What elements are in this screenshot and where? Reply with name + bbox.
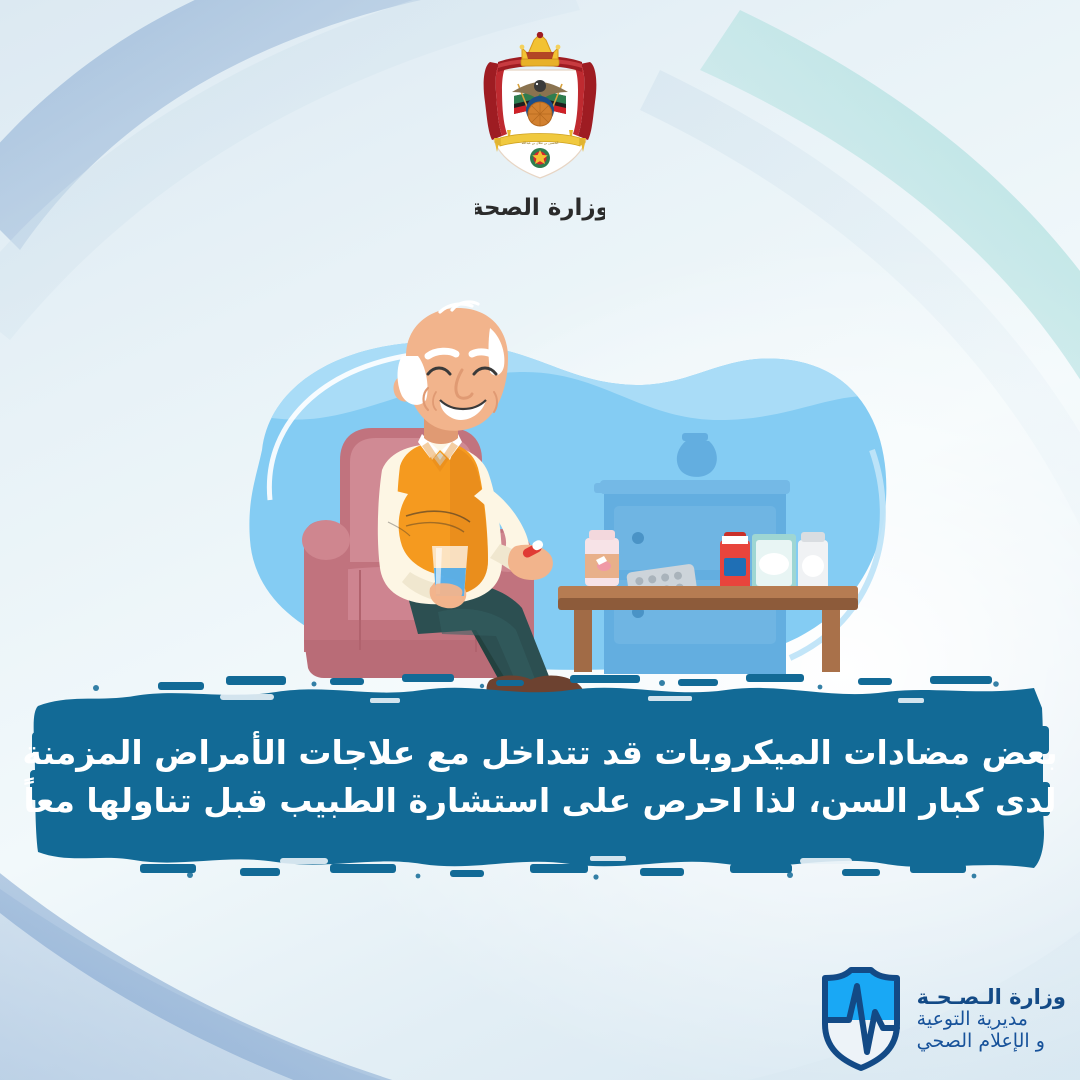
moh-directorate-logo: وزارة الـصـحـة مديرية التوعية و الإعلام …	[815, 966, 1066, 1072]
jordan-coat-of-arms-icon: الحسين بن طلال بن عبدالله	[474, 32, 606, 182]
message-banner: بعض مضادات الميكروبات قد تتداخل مع علاجا…	[30, 672, 1050, 882]
moh-logo-text: وزارة الـصـحـة مديرية التوعية و الإعلام …	[917, 986, 1066, 1052]
red-pill-bottle	[720, 532, 750, 590]
illustration-elderly-man-taking-medicine	[200, 300, 900, 700]
poster-canvas: الحسين بن طلال بن عبدالله وزارة الصحة	[0, 0, 1080, 1080]
emblem-block: الحسين بن طلال بن عبدالله وزارة الصحة	[0, 32, 1080, 224]
crown	[520, 32, 561, 66]
medal	[530, 148, 550, 168]
emblem-caption-text: وزارة الصحة	[475, 195, 605, 221]
health-shield-heartbeat-icon	[815, 966, 907, 1072]
arc-bottom-left	[0, 860, 560, 1080]
pink-pill-bottle	[585, 530, 619, 586]
moh-logo-line-1: وزارة الـصـحـة	[917, 986, 1066, 1010]
banner-line-1: بعض مضادات الميكروبات قد تتداخل مع علاجا…	[22, 732, 1057, 774]
svg-text:الحسين بن طلال بن عبدالله: الحسين بن طلال بن عبدالله	[522, 141, 559, 145]
banner-text-block: بعض مضادات الميكروبات قد تتداخل مع علاجا…	[30, 672, 1050, 882]
white-pill-jar	[798, 532, 828, 590]
emblem-caption-calligraphy: وزارة الصحة	[475, 188, 605, 224]
banner-line-2: لدى كبار السن، لذا احرص على استشارة الطب…	[23, 780, 1056, 822]
teal-medicine-box	[752, 534, 796, 592]
moh-logo-line-3: و الإعلام الصحي	[917, 1031, 1045, 1052]
moh-logo-line-2: مديرية التوعية	[917, 1009, 1028, 1030]
